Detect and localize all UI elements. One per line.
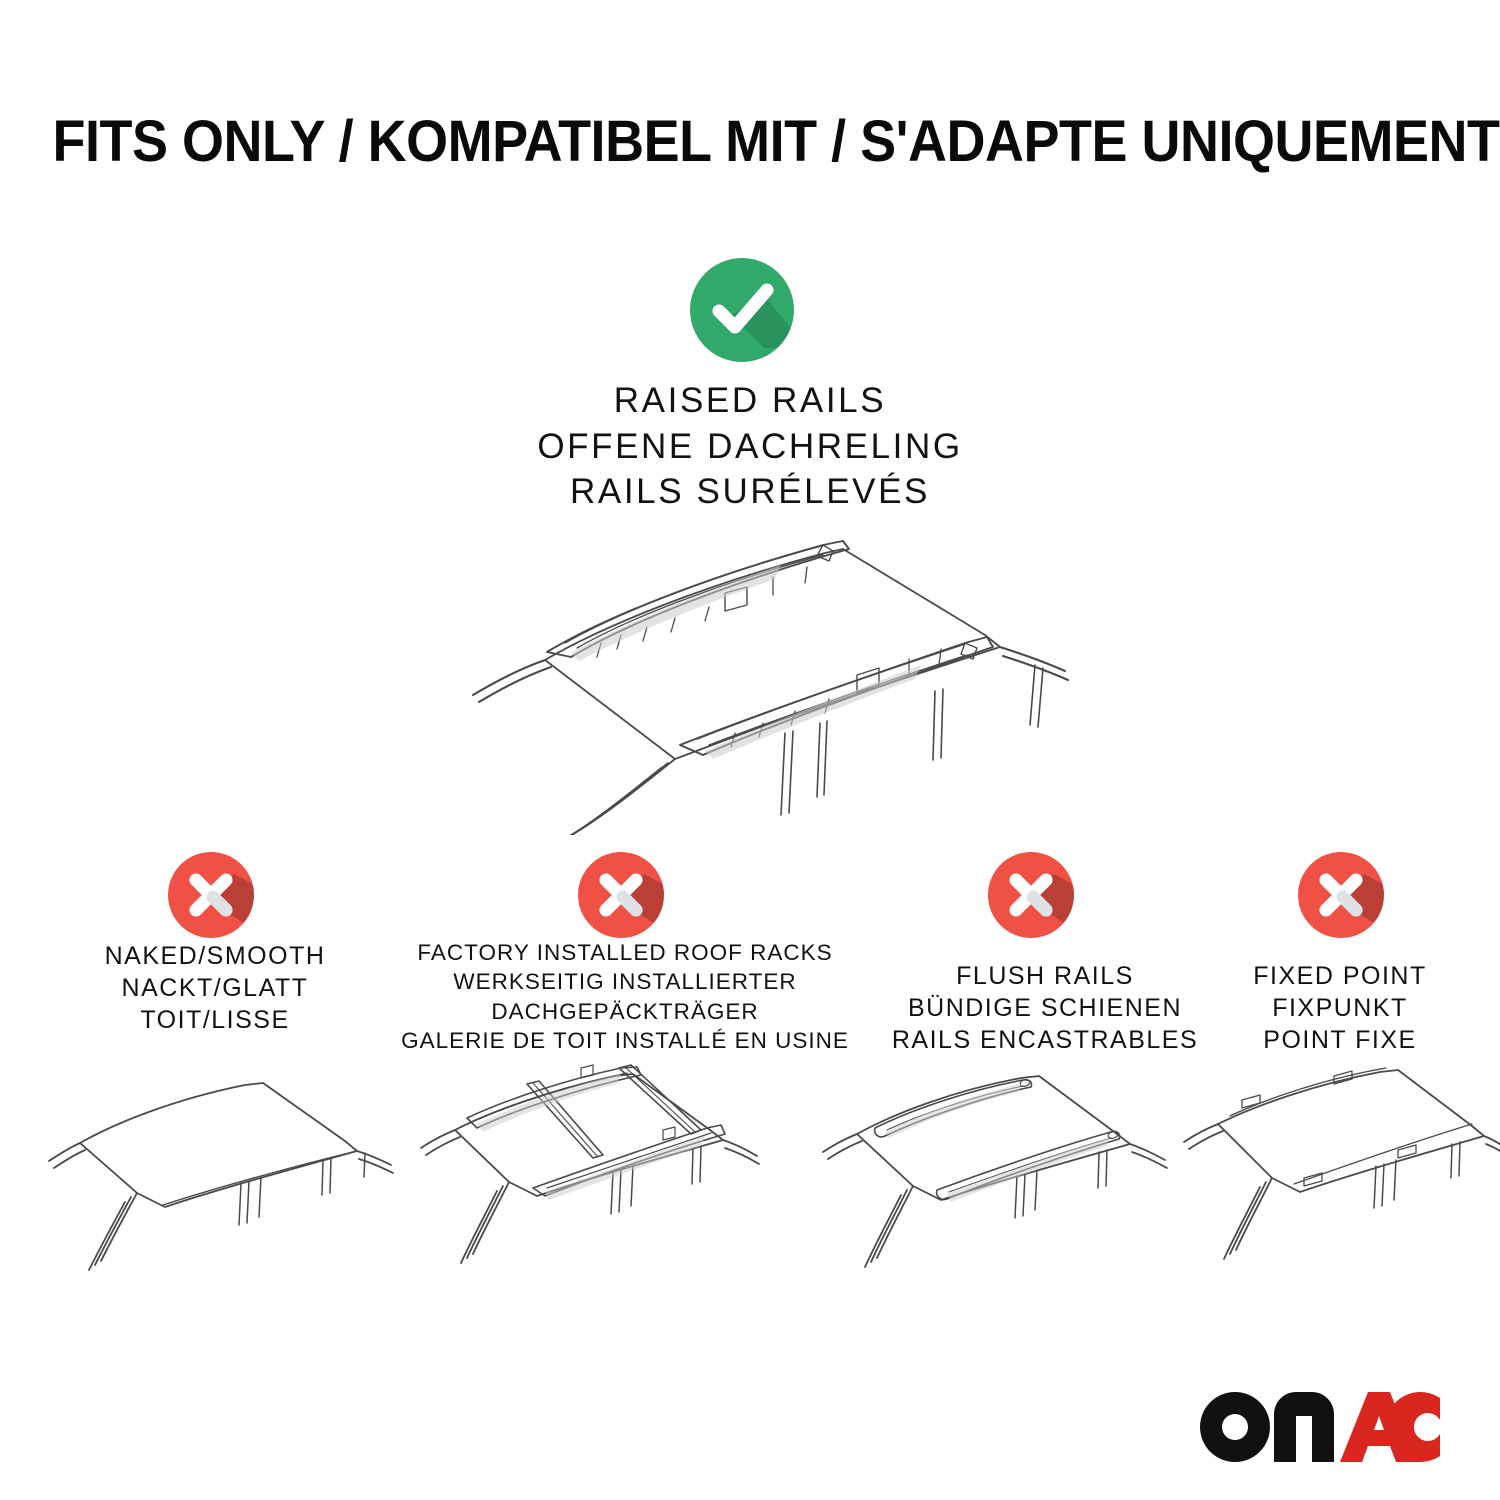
car-roof-factory-racks-illustration bbox=[405, 1062, 765, 1290]
caption-line: FLUSH RAILS bbox=[845, 960, 1245, 992]
caption-line: NACKT/GLATT bbox=[0, 972, 430, 1004]
car-roof-flush-rails-illustration bbox=[815, 1062, 1175, 1290]
car-roof-naked-smooth-illustration bbox=[45, 1065, 395, 1290]
incompatible-caption-flush-rails: FLUSH RAILS BÜNDIGE SCHIENEN RAILS ENCAS… bbox=[845, 960, 1245, 1056]
incompatible-caption-factory-roof-racks: FACTORY INSTALLED ROOF RACKS WERKSEITIG … bbox=[395, 938, 855, 1055]
cross-circle-icon bbox=[1298, 852, 1402, 950]
cross-circle-icon bbox=[168, 852, 272, 950]
caption-line: FIXPUNKT bbox=[1190, 992, 1490, 1024]
incompatible-caption-fixed-point: FIXED POINT FIXPUNKT POINT FIXE bbox=[1190, 960, 1490, 1056]
caption-line: RAILS ENCASTRABLES bbox=[845, 1024, 1245, 1056]
compatible-line-2: OFFENE DACHRELING bbox=[0, 424, 1500, 470]
check-circle-icon bbox=[690, 258, 814, 370]
cross-circle-icon bbox=[578, 852, 682, 950]
car-roof-raised-rails-illustration bbox=[425, 515, 1095, 835]
caption-line: NAKED/SMOOTH bbox=[0, 940, 430, 972]
omac-logo bbox=[1200, 1392, 1440, 1462]
logo-letter-o bbox=[1200, 1392, 1270, 1462]
caption-line: BÜNDIGE SCHIENEN bbox=[845, 992, 1245, 1024]
cross-circle-icon bbox=[988, 852, 1092, 950]
incompatible-caption-naked-smooth: NAKED/SMOOTH NACKT/GLATT TOIT/LISSE bbox=[0, 940, 430, 1036]
caption-line: DACHGEPÄCKTRÄGER bbox=[395, 997, 855, 1026]
page-title: FITS ONLY / KOMPATIBEL MIT / S'ADAPTE UN… bbox=[53, 108, 1448, 175]
caption-line: WERKSEITIG INSTALLIERTER bbox=[395, 967, 855, 996]
compatible-line-3: RAILS SURÉLEVÉS bbox=[0, 469, 1500, 515]
logo-letter-m bbox=[1274, 1392, 1334, 1462]
car-roof-fixed-point-illustration bbox=[1180, 1062, 1500, 1290]
caption-line: POINT FIXE bbox=[1190, 1024, 1490, 1056]
caption-line: FACTORY INSTALLED ROOF RACKS bbox=[395, 938, 855, 967]
compatible-caption: RAISED RAILS OFFENE DACHRELING RAILS SUR… bbox=[0, 378, 1500, 515]
caption-line: TOIT/LISSE bbox=[0, 1004, 430, 1036]
caption-line: GALERIE DE TOIT INSTALLÉ EN USINE bbox=[395, 1026, 855, 1055]
compatible-line-1: RAISED RAILS bbox=[0, 378, 1500, 424]
caption-line: FIXED POINT bbox=[1190, 960, 1490, 992]
